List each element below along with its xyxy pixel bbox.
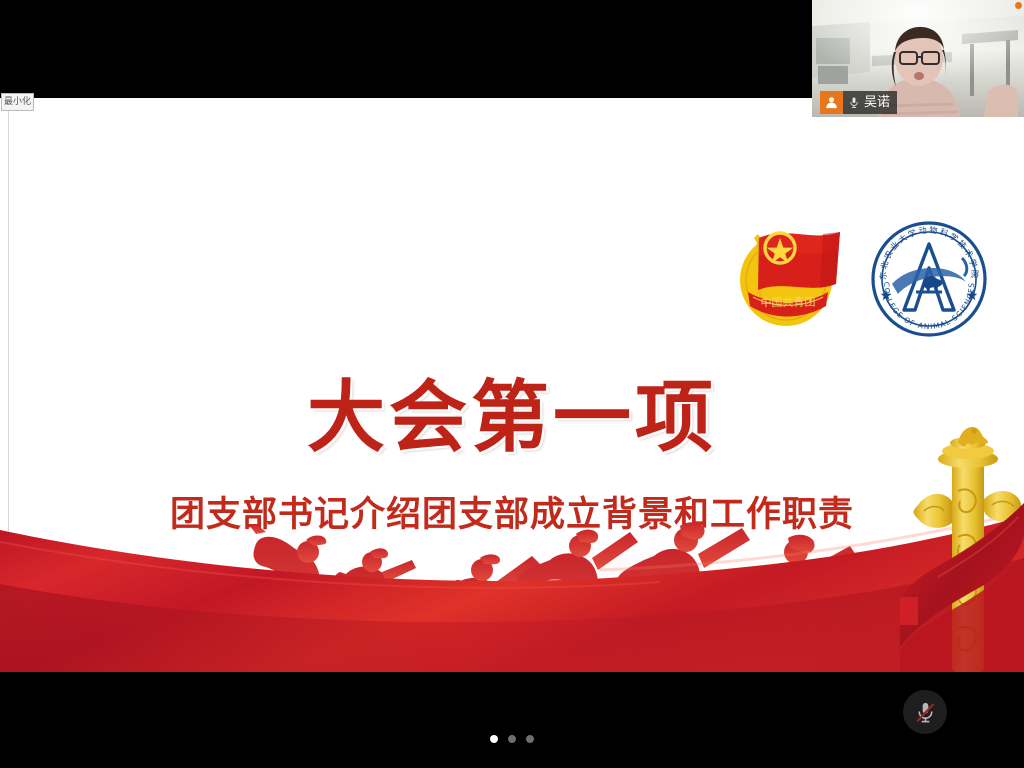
communist-youth-league-emblem-icon: 中国共青团 xyxy=(728,210,850,332)
participant-name: 吴诺 xyxy=(862,91,897,114)
slide-title: 大会第一项 xyxy=(0,376,1024,460)
minimize-button[interactable]: 最小化 xyxy=(1,93,34,111)
screen-root: 中国共青团 COLLEGE OF ANIMAL SCIENCES 东北农业大学动… xyxy=(0,0,1024,768)
pagination-dots[interactable] xyxy=(0,735,1024,743)
pagination-dot-1[interactable] xyxy=(490,735,498,743)
recording-indicator-dot xyxy=(1015,2,1022,9)
participant-video-panel[interactable]: 吴诺 xyxy=(812,0,1024,117)
pagination-dot-3[interactable] xyxy=(526,735,534,743)
microphone-icon xyxy=(846,91,862,114)
microphone-muted-icon xyxy=(914,701,937,724)
participant-name-bar: 吴诺 xyxy=(820,91,897,114)
presentation-slide[interactable]: 中国共青团 COLLEGE OF ANIMAL SCIENCES 东北农业大学动… xyxy=(0,98,1024,672)
person-icon xyxy=(820,91,843,114)
bottom-bar xyxy=(0,672,1024,768)
mute-microphone-button[interactable] xyxy=(903,690,947,734)
svg-text:中国共青团: 中国共青团 xyxy=(760,296,815,310)
red-silk-wave-graphic xyxy=(0,472,1024,672)
pagination-dot-2[interactable] xyxy=(508,735,516,743)
college-of-animal-sciences-emblem-icon: COLLEGE OF ANIMAL SCIENCES 东北农业大学动物科学技术学… xyxy=(868,218,990,340)
huabiao-pillar-graphic xyxy=(900,407,1024,672)
